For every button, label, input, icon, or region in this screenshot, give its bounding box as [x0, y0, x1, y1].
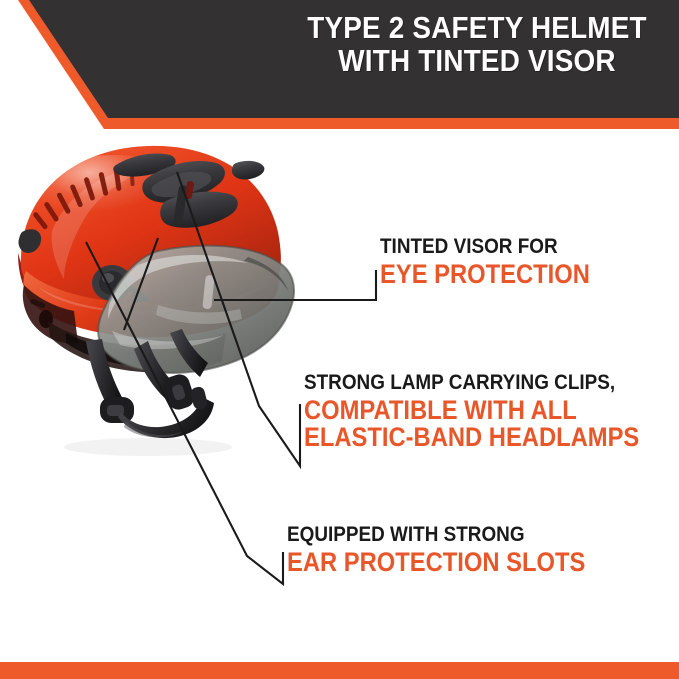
callout-eye-protection: TINTED VISOR FOR EYE PROTECTION — [380, 236, 619, 288]
product-shadow — [64, 438, 232, 456]
callout-1-line-1: TINTED VISOR FOR — [380, 236, 590, 258]
product-image — [8, 135, 308, 495]
header-white-wedge-outer — [0, 129, 98, 132]
title-line-2: WITH TINTED VISOR — [305, 45, 649, 78]
callout-1-line-2: EYE PROTECTION — [380, 261, 590, 289]
title-line-1: TYPE 2 SAFETY HELMET — [305, 12, 649, 45]
callout-3-line-2: EAR PROTECTION SLOTS — [287, 549, 585, 577]
callout-3-line-1: EQUIPPED WITH STRONG — [287, 524, 585, 546]
infographic-canvas: TYPE 2 SAFETY HELMET WITH TINTED VISOR — [0, 0, 679, 679]
callout-2-line-3: ELASTIC-BAND HEADLAMPS — [304, 424, 639, 452]
callout-ear-slots: EQUIPPED WITH STRONG EAR PROTECTION SLOT… — [287, 524, 626, 576]
strap-buckle — [100, 372, 197, 423]
page-title: TYPE 2 SAFETY HELMET WITH TINTED VISOR — [305, 12, 649, 78]
header-banner: TYPE 2 SAFETY HELMET WITH TINTED VISOR — [0, 0, 679, 132]
callout-2-line-1: STRONG LAMP CARRYING CLIPS, — [304, 372, 639, 394]
callout-2-line-2: COMPATIBLE WITH ALL — [304, 397, 639, 425]
helmet-illustration — [8, 135, 308, 495]
callout-lamp-clips: STRONG LAMP CARRYING CLIPS, COMPATIBLE W… — [304, 372, 679, 452]
footer-accent-bar — [0, 662, 679, 679]
